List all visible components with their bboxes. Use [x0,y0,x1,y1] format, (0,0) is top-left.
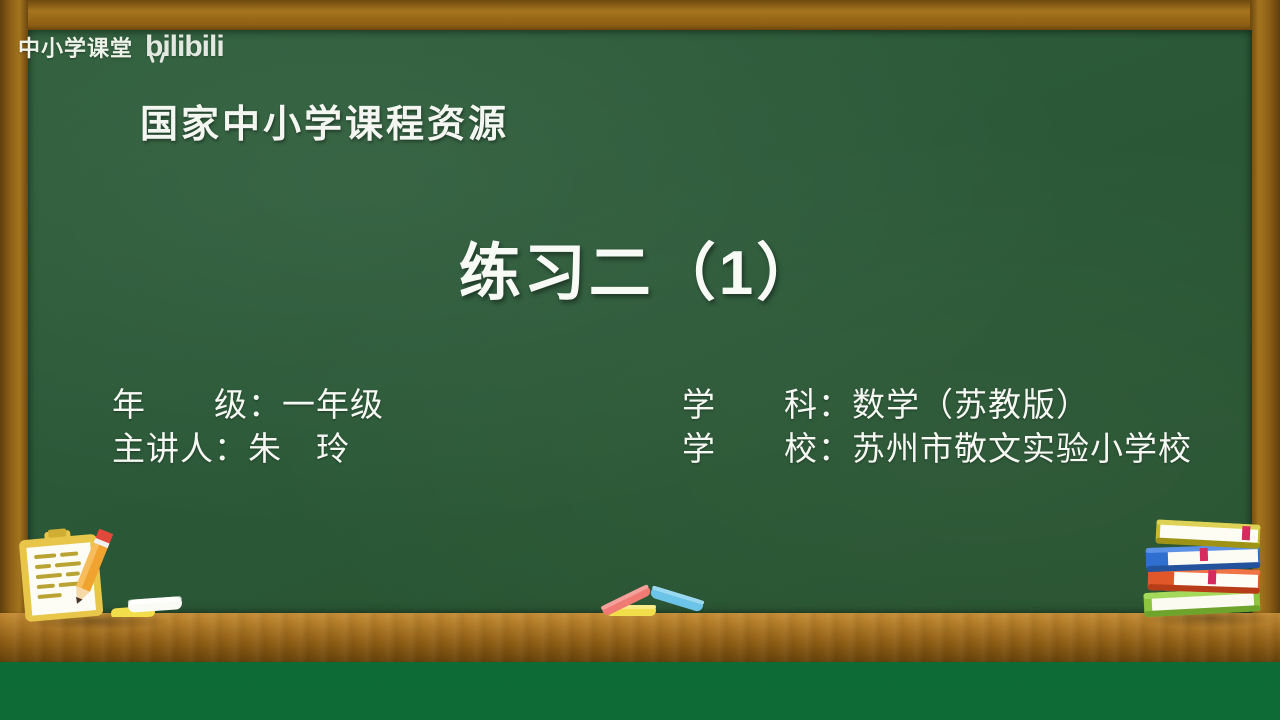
metadata-subject: 学 科：数学（苏教版） [682,384,1280,428]
metadata-grade: 年 级：一年级 [112,384,672,428]
bilibili-logo-icon: bilibili [144,30,224,64]
channel-name-label: 中小学课堂 [18,31,133,63]
slide-canvas: 中小学课堂 bilibili 国家中小学课程资源 练习二（1） 年 级：一年级 … [0,0,1280,720]
bottom-green-band [0,662,1280,720]
colored-chalk-sticks-icon [598,583,708,623]
metadata-teacher: 主讲人：朱 玲 [112,428,672,472]
channel-branding: 中小学课堂 bilibili [18,30,224,64]
lesson-metadata: 年 级：一年级 学 科：数学（苏教版） 主讲人：朱 玲 学 校：苏州市敬文实验小… [0,384,1280,472]
lesson-title: 练习二（1） [0,222,1280,312]
resource-headline: 国家中小学课程资源 [140,93,509,148]
stacked-books-icon [1142,512,1268,620]
bilibili-wordmark: bilibili [145,30,224,64]
frame-top-rail [0,0,1280,32]
white-chalk-icon [110,595,185,617]
metadata-school: 学 校：苏州市敬文实验小学校 [682,428,1280,472]
